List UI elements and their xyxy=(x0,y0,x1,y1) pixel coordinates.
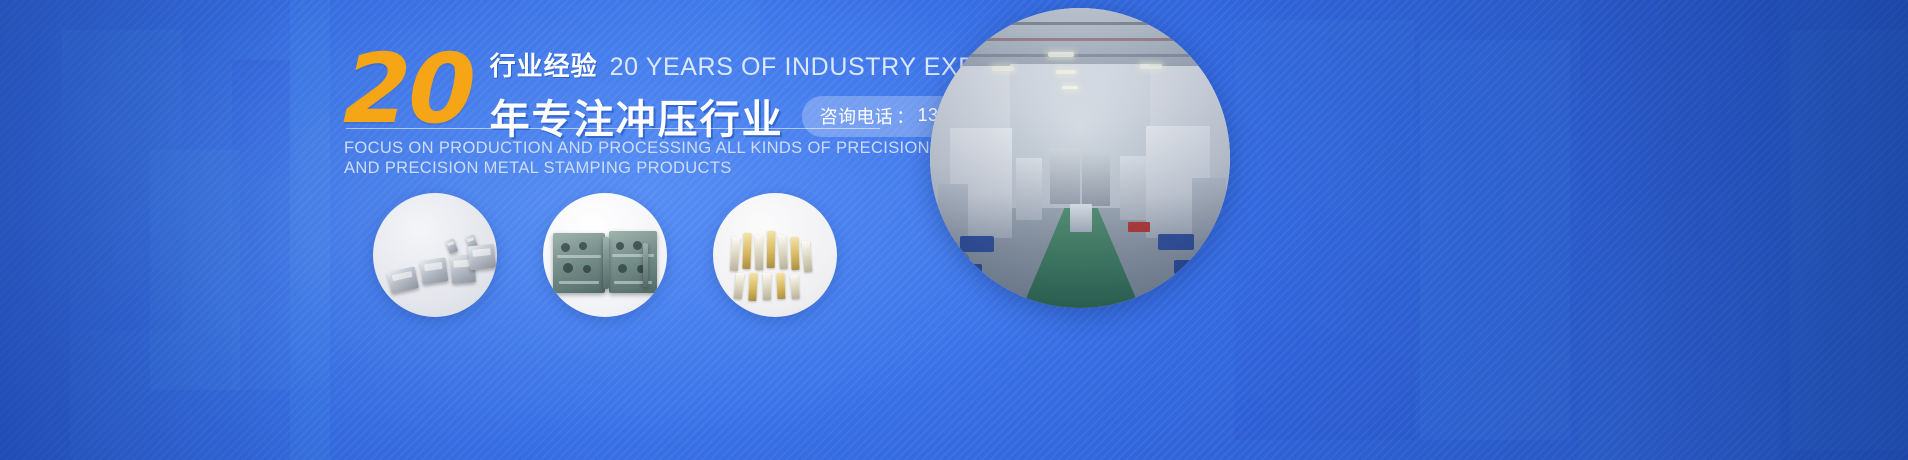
connector-pin-icon xyxy=(445,238,458,254)
terminal-pin-icon xyxy=(790,237,799,270)
cn-focus-label: 年专注冲压行业 xyxy=(490,87,784,145)
mold-pin-icon xyxy=(603,237,609,289)
connector-part-icon xyxy=(387,266,419,293)
mold-pin-icon xyxy=(643,243,648,287)
description-line-2: AND PRECISION METAL STAMPING PRODUCTS xyxy=(344,158,944,178)
factory-photo-circle[interactable] xyxy=(930,8,1230,308)
terminal-pin-icon xyxy=(778,235,788,269)
terminal-pin-icon xyxy=(790,275,800,299)
terminal-pin-icon xyxy=(748,273,757,301)
years-number: 20 xyxy=(342,40,475,132)
terminal-pin-icon xyxy=(730,237,740,271)
terminal-pin-icon xyxy=(777,273,786,299)
phone-label: 咨询电话 xyxy=(820,103,894,129)
description-line-1: FOCUS ON PRODUCTION AND PROCESSING ALL K… xyxy=(344,138,944,158)
terminal-pin-icon xyxy=(763,273,771,300)
terminal-pin-icon xyxy=(755,235,764,270)
connector-part-icon xyxy=(419,257,448,284)
mold-block-icon xyxy=(553,233,605,293)
description-text: FOCUS ON PRODUCTION AND PROCESSING ALL K… xyxy=(344,138,944,178)
phone-separator: ： xyxy=(896,103,914,129)
promo-banner: 20 行业经验 20 YEARS OF INDUSTRY EXPERIENCE … xyxy=(0,0,1908,460)
divider-line xyxy=(346,128,880,129)
terminal-pin-icon xyxy=(802,241,813,273)
mold-block-icon xyxy=(609,231,657,293)
terminal-pin-icon xyxy=(767,231,776,268)
product-circle-connectors[interactable] xyxy=(373,193,497,317)
photo-shading xyxy=(930,8,1230,308)
connector-part-icon xyxy=(468,244,496,271)
product-circle-mold[interactable] xyxy=(543,193,667,317)
terminal-pin-icon xyxy=(734,273,745,300)
terminal-pin-icon xyxy=(742,233,751,269)
product-circle-terminals[interactable] xyxy=(713,193,837,317)
headline-block: 20 行业经验 20 YEARS OF INDUSTRY EXPERIENCE … xyxy=(0,0,940,460)
cn-experience-label: 行业经验 xyxy=(490,46,598,83)
